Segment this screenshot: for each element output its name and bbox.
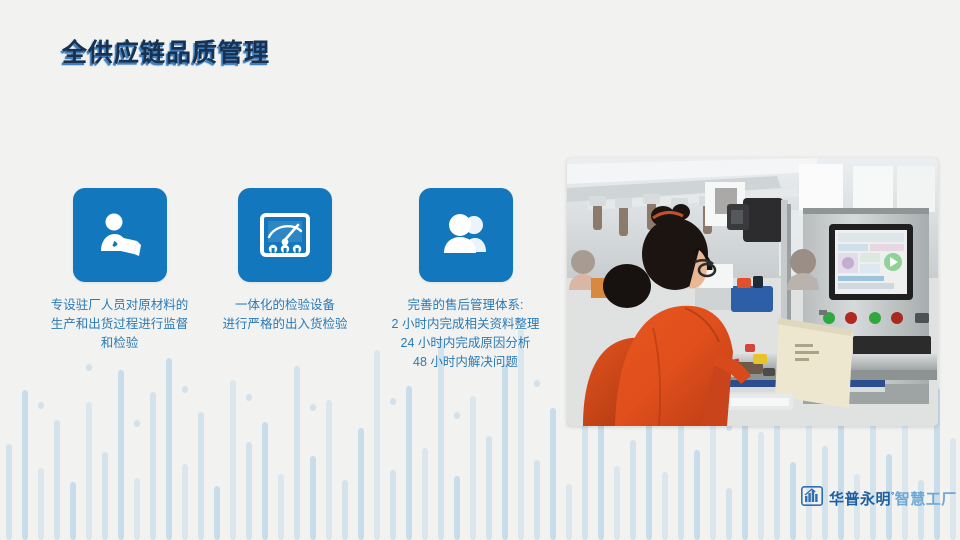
decorative-bar — [342, 480, 348, 540]
feature-text-1: 专设驻厂人员对原材料的 生产和出货过程进行监督 和检验 — [22, 296, 217, 353]
decorative-bar — [502, 364, 508, 540]
decorative-bar-chip — [38, 402, 44, 409]
decorative-bar-chip — [246, 394, 252, 401]
feature-icon-tile-3[interactable] — [419, 188, 513, 282]
decorative-bar — [374, 350, 380, 540]
decorative-bar — [614, 466, 620, 540]
decorative-bar — [182, 464, 188, 540]
building-bars-logo-icon — [801, 486, 823, 511]
brand-suffix: 智慧工厂 — [895, 491, 957, 508]
factory-photo-illustration — [567, 158, 938, 426]
decorative-bar — [150, 392, 156, 540]
decorative-bar — [550, 408, 556, 540]
decorative-bar — [246, 442, 252, 540]
factory-photo — [567, 158, 938, 426]
feature-item-after-sales: 完善的售后管理体系: 2 小时内完成相关资料整理 24 小时内完成原因分析 48… — [368, 188, 563, 372]
decorative-bar — [198, 412, 204, 540]
brand-logo-text: 华普永明°智慧工厂 — [829, 488, 957, 509]
two-users-icon — [438, 210, 494, 260]
decorative-bar — [166, 358, 172, 540]
decorative-bar-chip — [534, 380, 540, 387]
decorative-bar — [310, 456, 316, 540]
decorative-bar — [22, 390, 28, 540]
decorative-bar — [422, 448, 428, 540]
decorative-bar — [38, 468, 44, 540]
decorative-bar — [694, 450, 700, 540]
brand-name: 华普永明 — [829, 491, 891, 508]
decorative-bar — [54, 420, 60, 540]
decorative-bar — [790, 462, 796, 540]
decorative-bar — [278, 474, 284, 540]
feature-icon-tile-2[interactable] — [238, 188, 332, 282]
decorative-bar — [70, 482, 76, 540]
feature-item-testing-equipment: 一体化的检验设备 进行严格的出入货检验 — [205, 188, 365, 334]
decorative-bar-chip — [310, 404, 316, 411]
person-with-clipboard-icon — [92, 207, 148, 263]
decorative-bar-chip — [86, 364, 92, 371]
decorative-bar — [566, 484, 572, 540]
gauge-meter-icon — [257, 209, 313, 261]
decorative-bar — [406, 386, 412, 540]
decorative-bar — [726, 488, 732, 540]
decorative-bar — [262, 422, 268, 540]
feature-text-2: 一体化的检验设备 进行严格的出入货检验 — [205, 296, 365, 334]
decorative-bar — [102, 452, 108, 540]
feature-item-inspection-staff: 专设驻厂人员对原材料的 生产和出货过程进行监督 和检验 — [22, 188, 217, 353]
page-title-container: 全供应链品质管理 — [62, 33, 270, 69]
decorative-bar — [214, 486, 220, 540]
decorative-bar — [470, 396, 476, 540]
decorative-bar — [582, 418, 588, 540]
decorative-bar — [134, 478, 140, 540]
decorative-bar — [758, 432, 764, 540]
brand-logo: 华普永明°智慧工厂 — [801, 486, 957, 511]
decorative-bar — [326, 400, 332, 540]
feature-text-3: 完善的售后管理体系: 2 小时内完成相关资料整理 24 小时内完成原因分析 48… — [368, 296, 563, 372]
decorative-bar — [390, 470, 396, 540]
decorative-bar — [6, 444, 12, 540]
decorative-bar — [454, 476, 460, 540]
decorative-bar — [294, 366, 300, 540]
slide-canvas: 全供应链品质管理 专设驻厂人员对原材料的 生产和出货过程进行监督 和检验 — [0, 0, 960, 540]
feature-icon-tile-1[interactable] — [73, 188, 167, 282]
decorative-bar — [662, 472, 668, 540]
decorative-bar — [630, 440, 636, 540]
decorative-bar-chip — [454, 412, 460, 419]
decorative-bar — [118, 370, 124, 540]
decorative-bar — [534, 460, 540, 540]
page-title: 全供应链品质管理 — [62, 33, 270, 69]
decorative-bar — [230, 380, 236, 540]
decorative-bar — [86, 402, 92, 540]
decorative-bar — [358, 428, 364, 540]
decorative-bar-chip — [390, 398, 396, 405]
decorative-bar-chip — [182, 386, 188, 393]
decorative-bar — [742, 410, 748, 540]
decorative-bar — [486, 436, 492, 540]
decorative-bar-chip — [134, 420, 140, 427]
